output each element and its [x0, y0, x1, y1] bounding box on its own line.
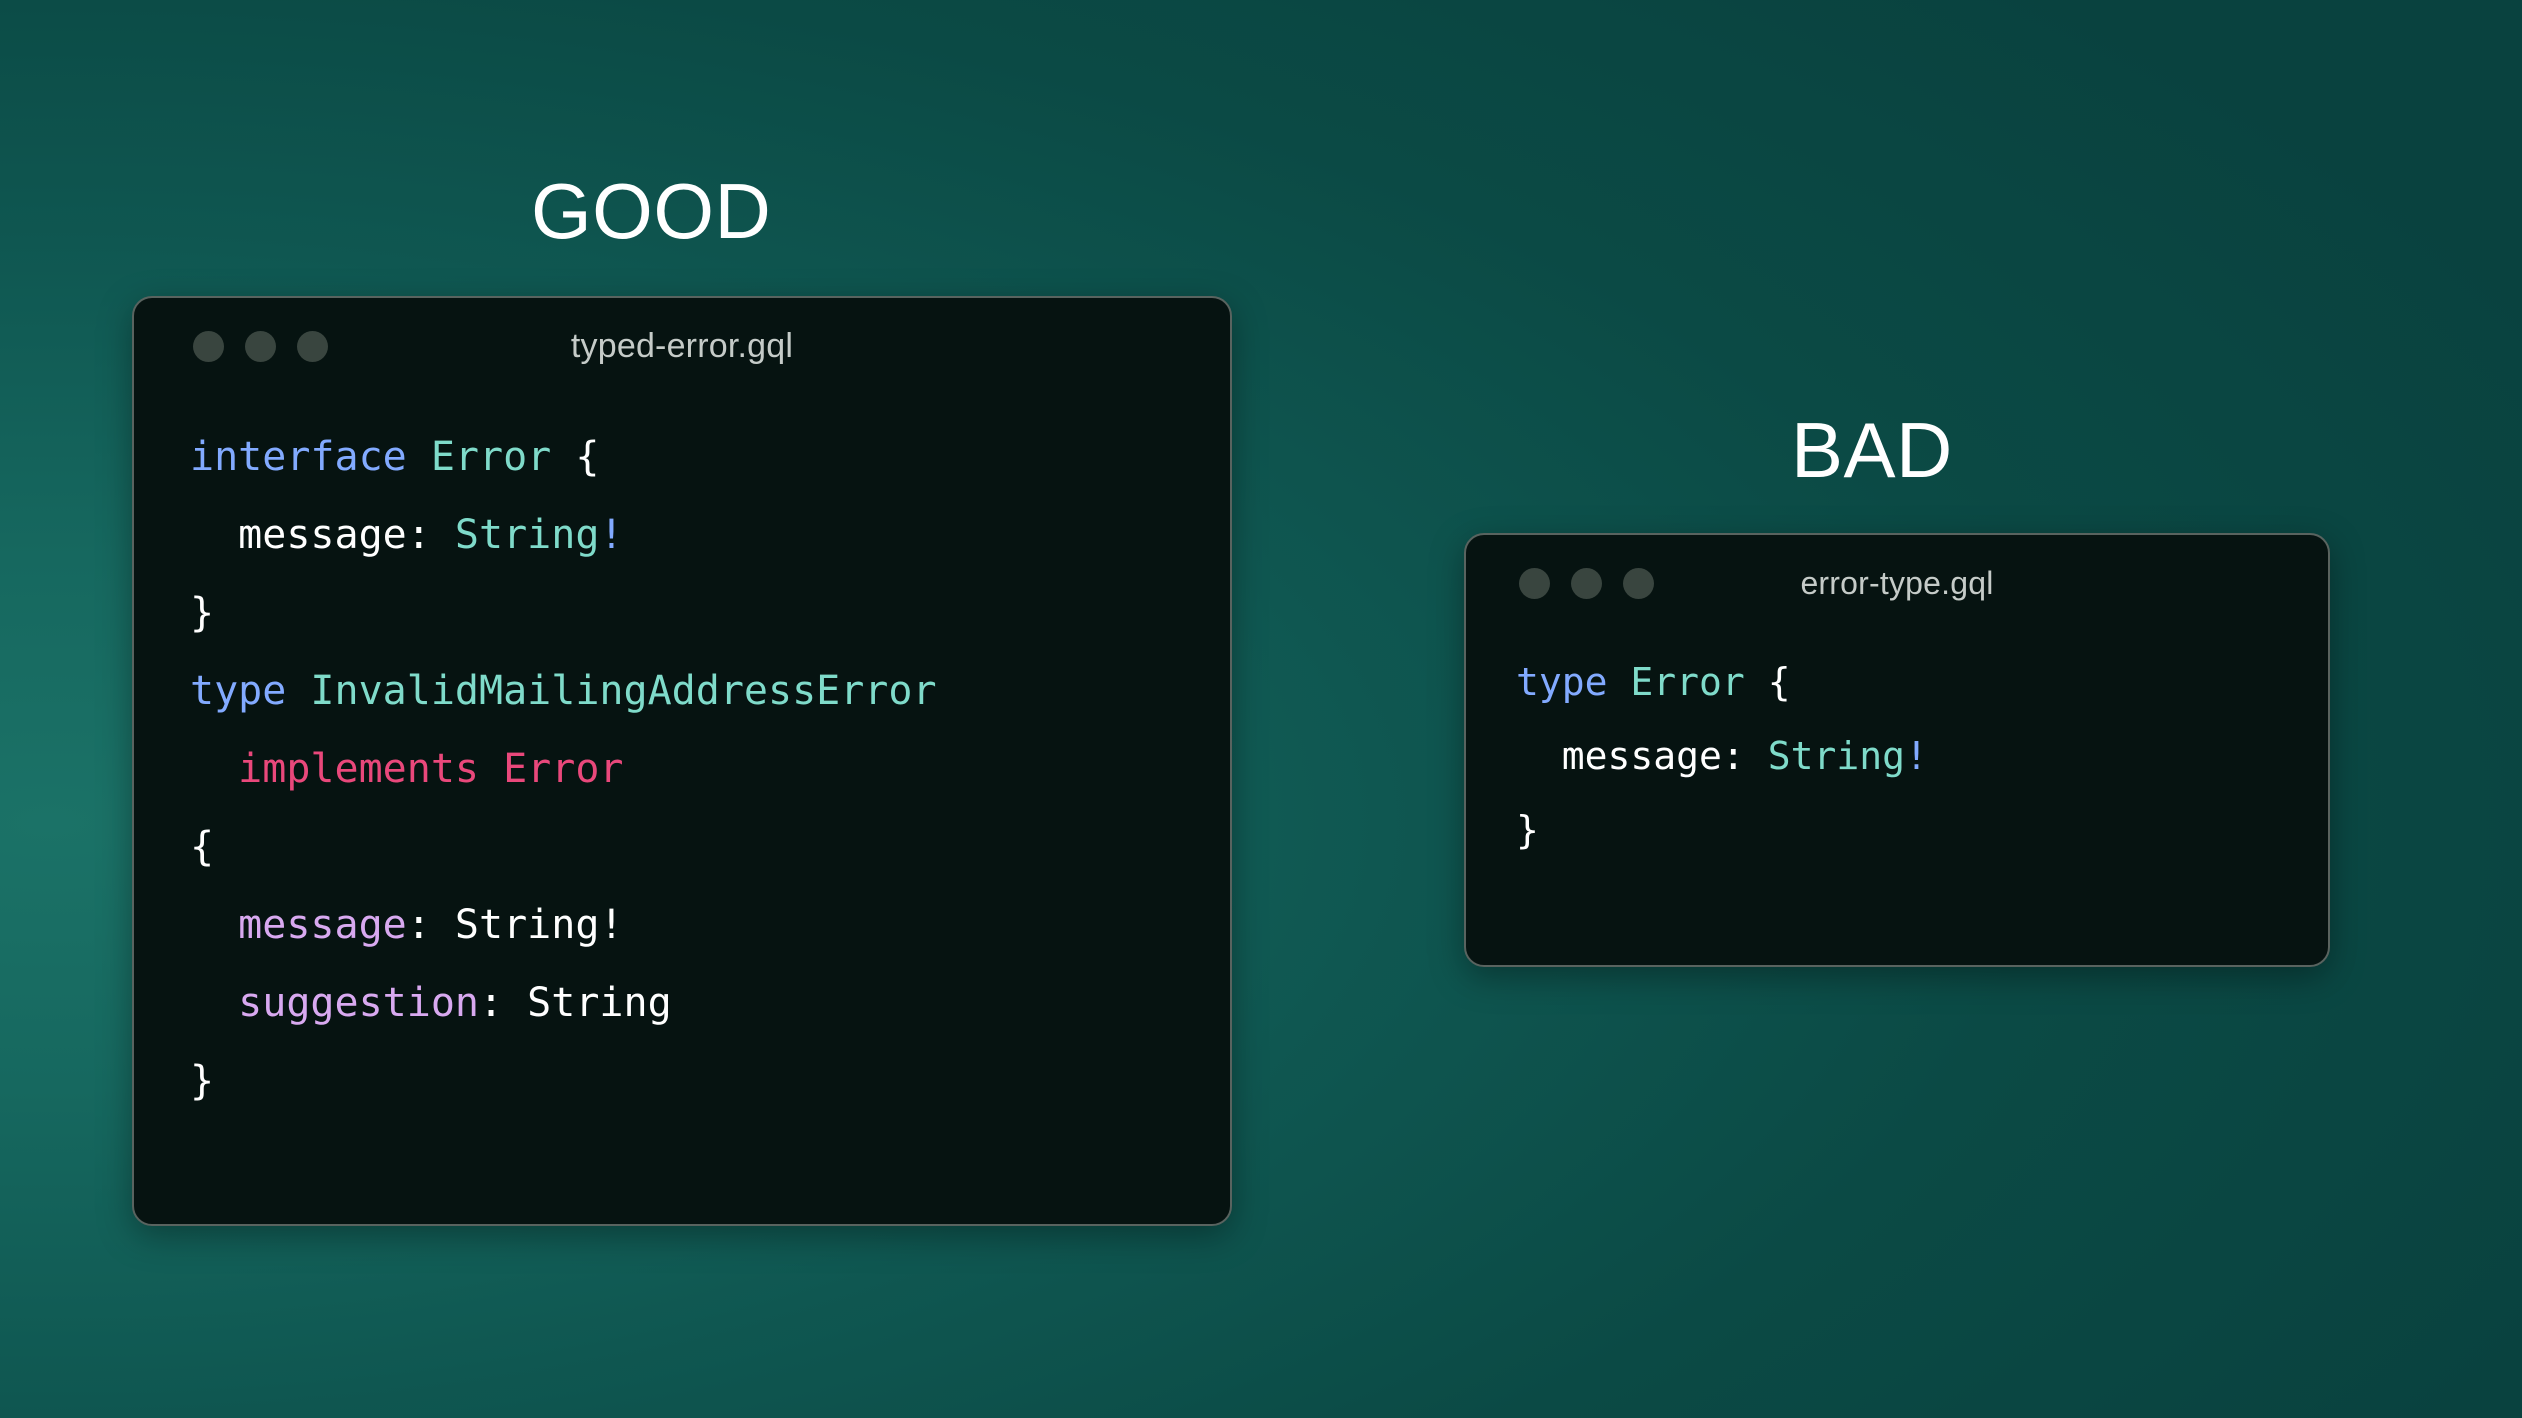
code-token: suggestion — [238, 980, 479, 1026]
code-token: Error — [1630, 660, 1744, 704]
maximize-dot-icon[interactable] — [297, 331, 328, 362]
good-code-block: interface Error { message: String!}type … — [134, 394, 1230, 1120]
code-token: { — [575, 434, 599, 480]
code-token: : — [1722, 734, 1768, 778]
bad-caption: BAD — [1791, 411, 1953, 489]
minimize-dot-icon[interactable] — [1571, 568, 1602, 599]
code-token: type — [190, 668, 286, 714]
code-token: : — [407, 902, 455, 948]
code-line: type InvalidMailingAddressError — [190, 652, 1230, 730]
code-token: ! — [599, 512, 623, 558]
code-token — [1516, 734, 1562, 778]
code-token: message — [238, 512, 407, 558]
code-line: } — [190, 1042, 1230, 1120]
comparison-canvas: GOOD typed-error.gql interface Error { m… — [0, 0, 2522, 1418]
code-line: implements Error — [190, 730, 1230, 808]
bad-code-block: type Error { message: String!} — [1466, 631, 2328, 867]
code-token: Error — [431, 434, 551, 480]
code-token — [551, 434, 575, 480]
close-dot-icon[interactable] — [1519, 568, 1550, 599]
code-token: : — [407, 512, 455, 558]
code-line: message: String! — [190, 496, 1230, 574]
code-token — [190, 902, 238, 948]
code-line: interface Error { — [190, 418, 1230, 496]
code-token: ! — [1905, 734, 1928, 778]
bad-code-window: error-type.gql type Error { message: Str… — [1464, 533, 2330, 967]
window-controls — [1519, 568, 1654, 599]
code-line: message: String! — [1516, 719, 2328, 793]
code-token: { — [1768, 660, 1791, 704]
code-token — [407, 434, 431, 480]
code-line: suggestion: String — [190, 964, 1230, 1042]
code-token: implements Error — [238, 746, 623, 792]
code-token: type — [1516, 660, 1608, 704]
code-token — [1608, 660, 1631, 704]
code-line: { — [190, 808, 1230, 886]
code-token: interface — [190, 434, 407, 480]
good-titlebar: typed-error.gql — [134, 298, 1230, 394]
code-token — [190, 746, 238, 792]
code-token — [190, 512, 238, 558]
code-line: } — [190, 574, 1230, 652]
code-line: message: String! — [190, 886, 1230, 964]
code-token: } — [190, 590, 214, 636]
code-token: } — [190, 1058, 214, 1104]
code-token: message — [238, 902, 407, 948]
bad-titlebar: error-type.gql — [1466, 535, 2328, 631]
code-token: String! — [455, 902, 624, 948]
code-line: type Error { — [1516, 645, 2328, 719]
minimize-dot-icon[interactable] — [245, 331, 276, 362]
code-token: message — [1562, 734, 1722, 778]
good-code-window: typed-error.gql interface Error { messag… — [132, 296, 1232, 1226]
code-token: : — [479, 980, 527, 1026]
code-token — [190, 980, 238, 1026]
maximize-dot-icon[interactable] — [1623, 568, 1654, 599]
good-caption: GOOD — [531, 172, 771, 250]
code-token: String — [527, 980, 672, 1026]
window-controls — [193, 331, 328, 362]
code-token: String — [455, 512, 600, 558]
code-token: } — [1516, 808, 1539, 852]
close-dot-icon[interactable] — [193, 331, 224, 362]
code-token — [286, 668, 310, 714]
code-token: String — [1768, 734, 1905, 778]
code-token: InvalidMailingAddressError — [310, 668, 936, 714]
code-line: } — [1516, 793, 2328, 867]
code-token — [1745, 660, 1768, 704]
code-token: { — [190, 824, 214, 870]
